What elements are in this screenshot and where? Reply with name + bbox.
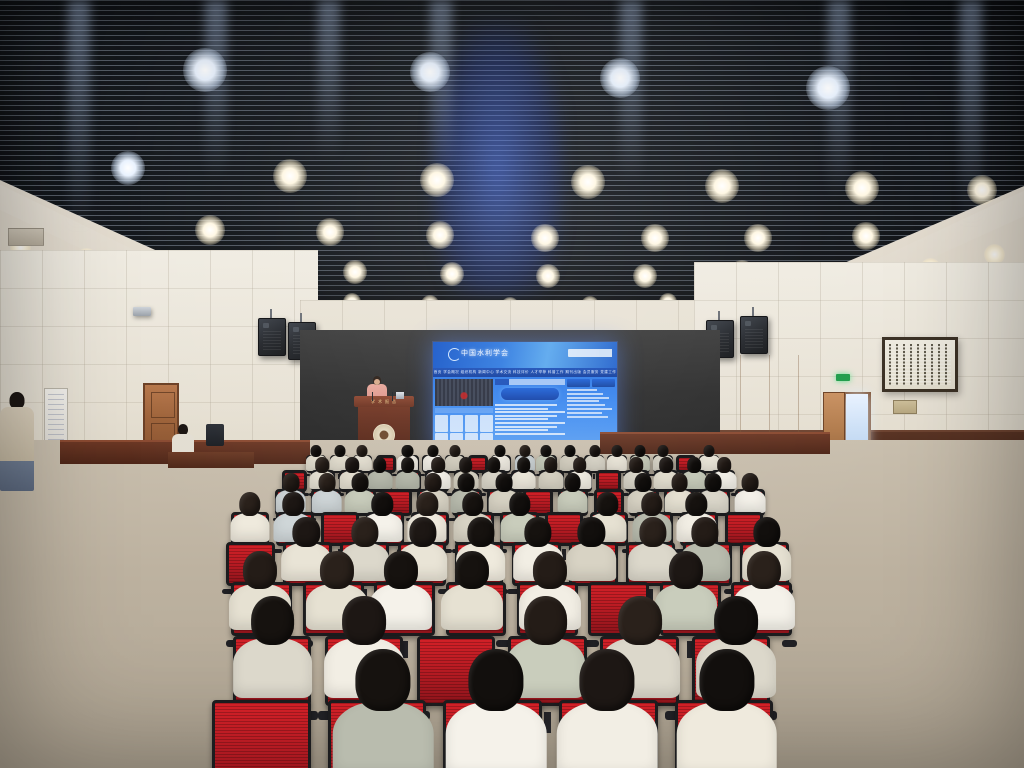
audience-head: [612, 445, 623, 457]
audience-head: [699, 649, 754, 711]
audience-head: [718, 457, 732, 472]
control-desk-monitor: [206, 424, 224, 446]
audience-head: [320, 551, 354, 589]
audience-head: [704, 445, 715, 457]
site-nav-item[interactable]: 新闻中心: [478, 370, 494, 375]
ceiling-downlight: [705, 169, 739, 203]
audience-head: [641, 492, 662, 516]
site-search-button[interactable]: [599, 349, 612, 357]
news-list-item[interactable]: [495, 404, 557, 406]
audience-torso: [333, 702, 434, 768]
audience-head: [467, 517, 494, 548]
site-nav-item[interactable]: 学会概况: [443, 370, 459, 375]
exit-sign-icon: [836, 374, 850, 381]
ceiling-downlight: [641, 224, 668, 251]
quick-link-tile[interactable]: [450, 415, 463, 432]
audience-torso: [231, 513, 270, 542]
audience-head: [335, 445, 346, 457]
sidebar-list-item[interactable]: [567, 393, 603, 395]
sidebar-list-item[interactable]: [567, 400, 599, 402]
quick-link-tile[interactable]: [435, 415, 448, 432]
audience-member: [446, 649, 547, 768]
ceiling-downlight: [806, 66, 850, 110]
site-nav-bar[interactable]: 首页学会概况组织机构新闻中心学术交流科技评价人才举荐科普工作期刊出版会员服务党建…: [433, 368, 617, 377]
audience-member: [735, 473, 766, 515]
audience-head: [402, 445, 413, 457]
audience-head: [753, 517, 780, 548]
audience-head: [345, 457, 359, 472]
audience-head: [356, 649, 411, 711]
audience-head: [578, 517, 605, 548]
sidebar-list-item[interactable]: [567, 412, 602, 414]
audience-head: [373, 457, 387, 472]
chair-post: [593, 474, 595, 479]
audience-head: [449, 445, 460, 457]
audience-head: [318, 473, 335, 492]
audience-torso: [233, 638, 313, 698]
audience-head: [487, 457, 501, 472]
light-beam: [318, 0, 340, 160]
sidebar-list-item[interactable]: [567, 397, 609, 399]
site-nav-item[interactable]: 人才举荐: [530, 370, 546, 375]
site-logo-icon: [448, 348, 461, 361]
audience-head: [495, 445, 506, 457]
audience-head: [239, 492, 260, 516]
site-nav-item[interactable]: 期刊出版: [565, 370, 581, 375]
audience-member: [333, 649, 434, 768]
audience-head: [630, 457, 644, 472]
audience-head: [351, 517, 378, 548]
audience-head: [639, 517, 666, 548]
ceiling-downlight: [111, 151, 145, 185]
audience-head: [315, 457, 329, 472]
audience-head: [425, 473, 442, 492]
audience-member: [231, 492, 270, 545]
audience-head: [747, 551, 781, 589]
site-header: 中国水利学会: [433, 342, 617, 368]
ceiling-downlight: [440, 262, 464, 286]
audience-head: [496, 473, 513, 492]
ceiling-downlight: [571, 165, 605, 199]
audience-head: [431, 457, 445, 472]
audience-head: [589, 445, 600, 457]
ceiling-downlight: [744, 224, 771, 251]
ceiling-downlight: [273, 159, 307, 193]
audience-head: [687, 457, 701, 472]
standing-person: [0, 392, 34, 490]
microphone-icon-2: [392, 392, 393, 401]
audience-head: [657, 445, 668, 457]
audience-head: [457, 473, 474, 492]
member-button-row[interactable]: [567, 379, 615, 387]
audience-head: [427, 445, 438, 457]
audience-head: [660, 457, 674, 472]
announcement-pill[interactable]: [501, 388, 559, 400]
member-register-button[interactable]: [592, 379, 615, 387]
framed-calligraphy-artwork: [882, 337, 958, 392]
calligraphy-rows: [889, 344, 951, 385]
ceiling-downlight: [852, 222, 879, 249]
news-list-item[interactable]: [495, 415, 557, 417]
news-list-item[interactable]: [495, 408, 548, 410]
audience-head: [509, 492, 530, 516]
news-list-item[interactable]: [495, 426, 557, 428]
podium-laptop: [396, 392, 404, 399]
audience-member: [557, 473, 588, 515]
audience-head: [282, 473, 299, 492]
audience-head: [541, 445, 552, 457]
podium-lectern-top: 学 术 报 告: [354, 396, 414, 407]
audience-head: [243, 551, 277, 589]
audience-head: [565, 445, 576, 457]
audience-head: [671, 473, 688, 492]
audience-torso: [446, 702, 547, 768]
chair-armrest-right: [782, 640, 798, 647]
news-list-item[interactable]: [495, 433, 565, 435]
audience-head: [524, 517, 551, 548]
presenter-face: [374, 379, 380, 385]
quick-link-tile[interactable]: [465, 415, 478, 432]
sidebar-list-item[interactable]: [567, 404, 605, 406]
audience-head: [409, 517, 436, 548]
audience-torso: [676, 702, 777, 768]
audience-head: [293, 517, 320, 548]
audience-head: [520, 445, 531, 457]
site-nav-item[interactable]: 科普工作: [548, 370, 564, 375]
news-list-item[interactable]: [495, 422, 565, 424]
audience-head: [524, 596, 568, 645]
audience-member: [557, 649, 658, 768]
ceiling-downlight: [343, 260, 367, 284]
right-pa-speaker-2: [740, 316, 768, 354]
sidebar-list-item[interactable]: [567, 389, 597, 391]
ceiling-downlight: [426, 221, 453, 248]
audience-head: [401, 457, 415, 472]
audience-head: [544, 457, 558, 472]
audience-torso: [441, 584, 503, 631]
audience-head: [352, 473, 369, 492]
auditorium-chair: [212, 700, 311, 768]
podium-nameplate: 学 术 报 告: [354, 399, 414, 405]
news-tab-bar[interactable]: [495, 379, 565, 385]
ceiling-downlight: [420, 163, 454, 197]
audience-torso: [557, 702, 658, 768]
news-list-item[interactable]: [495, 411, 565, 413]
audience-member: [233, 596, 313, 705]
audience-member: [395, 457, 420, 491]
audience-head: [311, 445, 322, 457]
sidebar-list-item[interactable]: [567, 408, 612, 410]
audience-head: [564, 473, 581, 492]
site-nav-item[interactable]: 科技评价: [513, 370, 529, 375]
audience-head: [580, 649, 635, 711]
audience-head: [372, 492, 393, 516]
audience-head: [635, 445, 646, 457]
audience-torso: [557, 490, 588, 513]
carousel-caption: [435, 408, 493, 413]
audience-torso: [395, 471, 420, 490]
audience-head: [704, 473, 721, 492]
lecture-hall-photo: 中国水利学会 首页学会概况组织机构新闻中心学术交流科技评价人才举荐科普工作期刊出…: [0, 0, 1024, 768]
audience-head: [283, 492, 304, 516]
ceiling-downlight: [316, 218, 343, 245]
chair-backrest: [212, 700, 311, 768]
audience-head: [533, 551, 567, 589]
audience-head: [459, 457, 473, 472]
ceiling-downlight: [536, 264, 560, 288]
audience-member: [441, 551, 503, 636]
site-nav-item[interactable]: 组织机构: [461, 370, 477, 375]
audience-torso: [311, 490, 342, 513]
left-pa-speaker-1: [258, 318, 286, 356]
audience-head: [714, 596, 758, 645]
audience-head: [416, 492, 437, 516]
member-login-button[interactable]: [567, 379, 590, 387]
site-nav-item[interactable]: 党建工作: [600, 370, 616, 375]
ceiling-vent: [8, 228, 44, 246]
ceiling-projector-icon: [133, 307, 151, 316]
audience-torso: [735, 490, 766, 513]
audience-head: [469, 649, 524, 711]
quick-link-tile[interactable]: [480, 415, 493, 432]
news-list-item[interactable]: [495, 429, 548, 431]
audience-head: [669, 551, 703, 589]
ceiling-downlight: [531, 224, 558, 251]
news-list-item[interactable]: [495, 418, 548, 420]
site-title: 中国水利学会: [461, 348, 509, 358]
carousel-photo[interactable]: [435, 379, 493, 406]
site-nav-item[interactable]: 会员服务: [583, 370, 599, 375]
audience-head: [342, 596, 386, 645]
audience-head: [596, 492, 617, 516]
audience-head: [384, 551, 418, 589]
site-nav-item[interactable]: 首页: [434, 370, 442, 375]
audience-head: [691, 517, 718, 548]
control-desk: [168, 452, 254, 468]
audience-head: [517, 457, 531, 472]
audience-head: [455, 551, 489, 589]
ceiling-downlight: [633, 264, 657, 288]
audience-member: [311, 473, 342, 515]
audience-head: [618, 596, 662, 645]
ceiling-downlight: [183, 48, 227, 92]
audience-head: [356, 445, 367, 457]
projection-screen: 中国水利学会 首页学会概况组织机构新闻中心学术交流科技评价人才举荐科普工作期刊出…: [432, 341, 618, 453]
light-beam: [68, 0, 90, 230]
audience-head: [742, 473, 759, 492]
audience-member: [676, 649, 777, 768]
site-nav-item[interactable]: 学术交流: [496, 370, 512, 375]
audience-head: [462, 492, 483, 516]
microphone-icon: [372, 392, 373, 401]
audience-head: [686, 492, 707, 516]
wall-plaque: [893, 400, 917, 414]
audience-head: [573, 457, 587, 472]
ceiling-downlight: [845, 171, 879, 205]
audience-head: [635, 473, 652, 492]
audience-head: [251, 596, 295, 645]
sidebar-list-item[interactable]: [567, 416, 608, 418]
